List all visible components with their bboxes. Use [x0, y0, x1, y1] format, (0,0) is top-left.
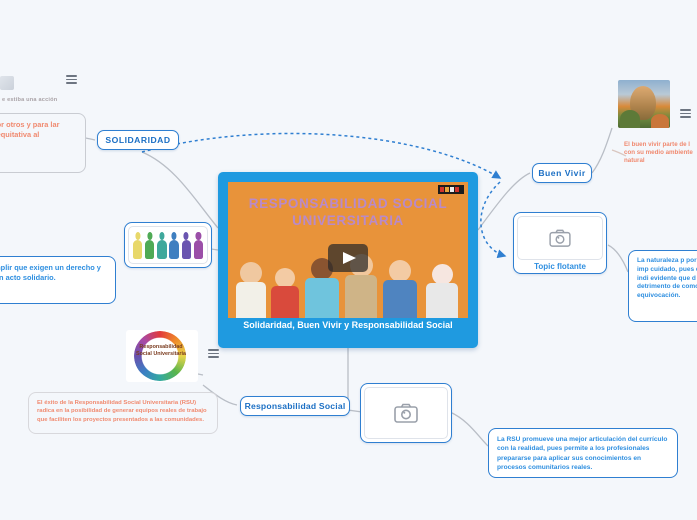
top-left-fragment-label: e estiba una acción [2, 97, 57, 103]
collapse-icon-rsu-circle[interactable] [208, 349, 219, 358]
note-buen-vivir-nature: El buen vivir parte de l con su medio am… [616, 135, 697, 171]
node-topic-flotante-label: Topic flotante [514, 262, 606, 271]
video-badge-icon [438, 185, 464, 194]
node-topic-flotante[interactable]: Topic flotante [513, 212, 607, 274]
note-rsu-exito: El éxito de la Responsabilidad Social Un… [28, 392, 218, 434]
people-row-image [128, 226, 208, 264]
camera-icon-topic-flotante [517, 216, 603, 260]
video-title: RESPONSABILIDAD SOCIAL UNIVERSITARIA [228, 196, 468, 230]
cartoon-figure-5 [382, 260, 418, 318]
play-icon[interactable] [328, 244, 368, 272]
node-solidaridad[interactable]: SOLIDARIDAD [97, 130, 179, 150]
top-left-thumbnail [0, 76, 14, 90]
image-node-floating-photo[interactable] [360, 383, 452, 443]
note-solidaridad-implies: mplica ser justos, cumplir que exigen un… [0, 256, 116, 304]
node-responsabilidad-social-label: Responsabilidad Social [245, 401, 346, 411]
cartoon-figure-6 [424, 264, 460, 318]
note-solidaridad-definition: a que permite a los , por otros y para l… [0, 113, 86, 173]
node-solidaridad-label: SOLIDARIDAD [105, 135, 170, 145]
mindmap-canvas[interactable]: e estiba una acción a que permite a los … [0, 0, 697, 520]
cartoon-figure-2 [270, 268, 300, 318]
video-slide: RESPONSABILIDAD SOCIAL UNIVERSITARIA [228, 182, 468, 318]
image-node-people-row[interactable] [124, 222, 212, 268]
center-video-node[interactable]: RESPONSABILIDAD SOCIAL UNIVERSITARIA [218, 172, 478, 348]
collapse-icon-nature-art[interactable] [680, 109, 691, 118]
collapse-icon-top-left[interactable] [66, 75, 77, 84]
camera-icon [364, 387, 448, 439]
nature-art-image [618, 80, 670, 128]
cartoon-figure-1 [234, 262, 268, 318]
node-responsabilidad-social[interactable]: Responsabilidad Social [240, 396, 350, 416]
rsu-circle-caption: Responsabilidad Social Universitaria [132, 344, 190, 358]
image-node-rsu-circle[interactable]: Responsabilidad Social Universitaria [126, 330, 198, 382]
image-node-nature-art[interactable] [618, 80, 670, 128]
note-naturaleza: La naturaleza p por ello es imp cuidado,… [628, 250, 697, 322]
note-rsu-curriculo: La RSU promueve una mejor articulación d… [488, 428, 678, 478]
node-buen-vivir-label: Buen Vivir [538, 168, 585, 178]
node-buen-vivir[interactable]: Buen Vivir [532, 163, 592, 183]
video-caption: Solidaridad, Buen Vivir y Responsabilida… [228, 320, 468, 332]
